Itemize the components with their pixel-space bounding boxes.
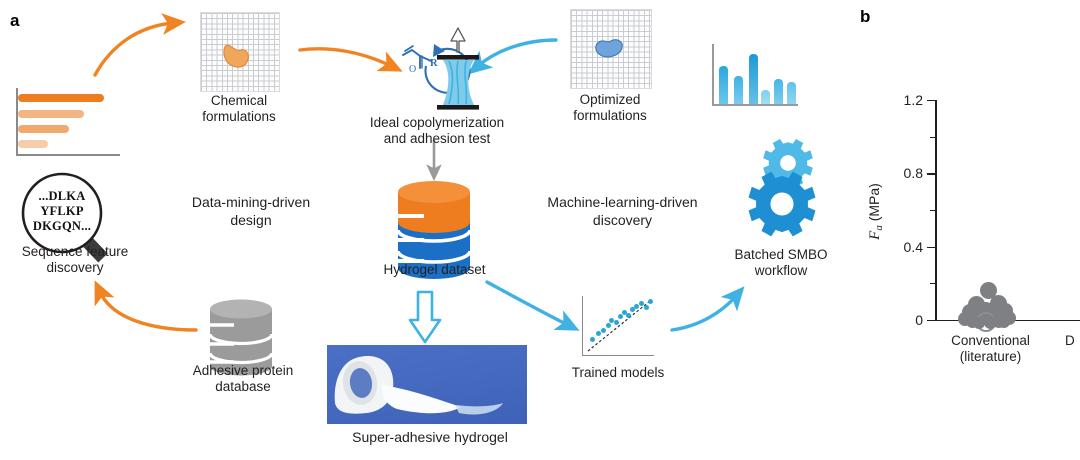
b-yminortick-0.6 — [930, 210, 935, 211]
ml-bar-2 — [734, 76, 743, 104]
optimized-formulations-grid — [570, 9, 652, 89]
adhesion-gel-fiber-1 — [449, 61, 452, 104]
b-xlabel-conventional: Conventional (literature) — [938, 333, 1043, 365]
hydrogel-photo-content — [327, 345, 527, 424]
arrow-chemical-to-copolymerization — [300, 49, 391, 66]
ml-chart-y-axis — [712, 44, 714, 106]
b-ylabel-0: 0 — [885, 313, 923, 327]
label-super-adhesive-hydrogel: Super-adhesive hydrogel — [340, 429, 520, 446]
chemical-formulations-grid — [200, 12, 280, 92]
ml-bar-5 — [774, 79, 783, 104]
b-dot-15 — [998, 316, 1010, 328]
adhesion-gel-fiber-2 — [457, 61, 458, 104]
arrow-dataset-to-models — [487, 282, 568, 325]
arrow-dataset-to-hydrogel — [410, 292, 440, 342]
label-hydrogel-dataset: Hydrogel dataset — [367, 262, 502, 278]
seq-bar-3 — [18, 125, 69, 133]
ml-bar-4 — [761, 90, 770, 104]
panel-b-chart: 1.2 0.8 0.4 0 Fa (MPa) Conventional (lit… — [880, 90, 1080, 340]
seq-bar-1 — [18, 94, 104, 102]
arrow-optimized-to-copolymerization — [478, 40, 556, 66]
super-adhesive-hydrogel-photo — [327, 345, 527, 424]
adhesion-gel-fiber-3 — [465, 61, 466, 104]
b-ytick-1.2 — [927, 100, 935, 101]
b-yminortick-0.2 — [930, 283, 935, 284]
label-trained-models: Trained models — [553, 365, 683, 381]
figure-root: a b — [0, 0, 1080, 460]
chem-label-r-group: R — [430, 58, 438, 69]
b-xlabel-second-truncated: D — [1065, 333, 1080, 349]
b-ytick-0 — [927, 320, 935, 321]
b-dot-16 — [973, 317, 985, 329]
b-ytick-0.4 — [927, 247, 935, 248]
arrow-seq-to-chemical — [95, 23, 173, 75]
adhesion-gel-icon — [443, 60, 474, 105]
ml-barchart-icon — [712, 44, 798, 106]
magnifier-sequence-text: ...DLKA YFLKP DKGQN... — [23, 189, 101, 233]
magnifier-line-1: ...DLKA — [23, 189, 101, 204]
arrow-database-to-sequence — [100, 292, 196, 330]
dataset-divider-2 — [398, 251, 470, 262]
gear-large-icon — [749, 172, 816, 237]
ml-bar-1 — [719, 66, 728, 104]
dataset-top-ellipse — [398, 181, 470, 203]
trained-models-scatter-icon — [582, 296, 654, 356]
protein-db-divider-2 — [210, 353, 272, 362]
arrow-models-to-smbo — [672, 296, 736, 330]
ml-bar-6 — [787, 82, 796, 104]
ml-bar-3 — [749, 54, 758, 104]
b-y-axis-title-symbol: F — [867, 231, 883, 240]
b-ylabel-1.2: 1.2 — [885, 93, 923, 107]
label-ideal-copolymerization: Ideal copolymerization and adhesion test — [347, 115, 527, 147]
label-sequence-feature-discovery: Sequence feature discovery — [0, 244, 150, 276]
b-y-axis-title-unit: (MPa) — [866, 183, 882, 225]
label-chemical-formulations: Chemical formulations — [174, 93, 304, 125]
ml-chart-x-axis — [712, 104, 798, 106]
label-adhesive-protein-database: Adhesive protein database — [173, 363, 313, 395]
tape-translucent-end — [455, 403, 503, 415]
magnifier-line-3: DKGQN... — [23, 219, 101, 234]
tape-strip — [382, 385, 461, 413]
seq-bar-4 — [18, 140, 48, 148]
b-yminortick-1.0 — [930, 137, 935, 138]
label-optimized-formulations: Optimized formulations — [545, 92, 675, 124]
seq-chart-x-axis — [16, 154, 120, 156]
b-y-axis-title-subscript: a — [873, 225, 885, 231]
panel-a-letter: a — [10, 12, 19, 29]
seq-bar-2 — [18, 110, 84, 118]
sequence-feature-barchart — [16, 88, 120, 156]
b-ytick-0.8 — [927, 173, 935, 174]
monomer-double-bond-icon — [405, 46, 413, 51]
label-data-mining-driven-design: Data-mining-driven design — [156, 194, 346, 229]
label-batched-smbo-workflow: Batched SMBO workflow — [706, 247, 856, 279]
protein-db-top-ellipse — [210, 300, 272, 319]
monomer-backbone-icon — [403, 50, 420, 56]
dataset-divider-1 — [398, 230, 470, 241]
protein-db-divider-1 — [210, 334, 272, 343]
b-y-axis-line — [935, 100, 937, 321]
b-ylabel-0.4: 0.4 — [885, 240, 923, 254]
panel-b-letter: b — [860, 8, 870, 25]
adhesion-bottom-plate-icon — [437, 105, 479, 110]
magnifier-line-2: YFLKP — [23, 204, 101, 219]
label-machine-learning-driven-discovery: Machine-learning-driven discovery — [515, 194, 730, 229]
chem-label-oxygen: O — [409, 64, 416, 75]
adhesion-pull-arrow-icon — [451, 28, 465, 52]
cycle-arrow-icon — [425, 49, 469, 93]
adhesion-top-plate-icon — [437, 55, 479, 60]
b-y-axis-title: Fa (MPa) — [866, 183, 885, 240]
b-ylabel-0.8: 0.8 — [885, 166, 923, 180]
b-dot-14 — [984, 316, 997, 329]
cycle-arrow-head — [433, 44, 445, 57]
gear-small-icon — [763, 139, 813, 187]
dataset-top-layer — [398, 192, 470, 233]
